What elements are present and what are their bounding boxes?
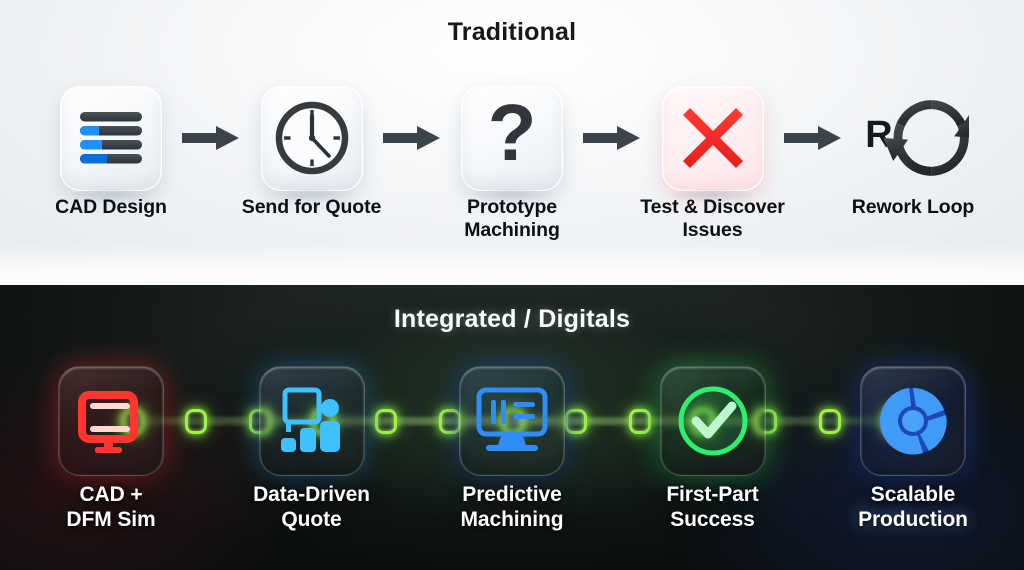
step-rework-loop[interactable]: R	[854, 68, 972, 208]
step-cad-design[interactable]	[52, 68, 170, 208]
tile-prototype-machining: ?	[461, 86, 563, 191]
label-predictive-machining: Predictive Machining	[417, 482, 607, 562]
tile-test-discover-issues	[662, 86, 764, 191]
step-cad-dfm-sim[interactable]	[52, 358, 170, 483]
clock-icon	[273, 99, 351, 177]
arrow-right-icon-1	[182, 125, 240, 151]
label-line1: Prototype	[467, 196, 557, 218]
label-cad-design: CAD Design	[16, 196, 206, 260]
label-line1: CAD Design	[55, 196, 167, 218]
label-prototype-machining: Prototype Machining	[417, 196, 607, 260]
traditional-step-row: ?	[0, 68, 1024, 208]
question-mark-icon: ?	[482, 98, 542, 178]
tile-data-driven-quote	[259, 366, 365, 476]
traditional-labels: CAD Design Send for Quote Prototype Mach…	[0, 196, 1024, 260]
analytics-person-icon	[275, 385, 349, 457]
step-test-discover-issues[interactable]	[654, 68, 772, 208]
label-line2: Machining	[417, 507, 607, 532]
traditional-title: Traditional	[0, 18, 1024, 47]
label-cad-dfm-sim: CAD + DFM Sim	[16, 482, 206, 562]
digital-labels: CAD + DFM Sim Data-Driven Quote Predicti…	[0, 482, 1024, 562]
label-line1: CAD +	[79, 483, 142, 506]
digital-step-row	[0, 358, 1024, 483]
cad-bars-icon	[78, 110, 144, 166]
label-first-part-success: First-Part Success	[618, 482, 808, 562]
svg-text:?: ?	[488, 98, 537, 177]
red-x-icon	[677, 102, 749, 174]
step-first-part-success[interactable]	[654, 358, 772, 483]
tile-rework-loop: R	[857, 86, 969, 191]
label-line2: DFM Sim	[16, 507, 206, 532]
tile-cad-design	[60, 86, 162, 191]
tile-send-for-quote	[261, 86, 363, 191]
arrow-right-icon-4	[784, 125, 842, 151]
label-scalable-production: Scalable Production	[818, 482, 1008, 562]
label-line1: Scalable	[871, 483, 955, 506]
tile-predictive-machining	[459, 366, 565, 476]
tile-first-part-success	[660, 366, 766, 476]
label-line2: Production	[818, 507, 1008, 532]
tile-cad-dfm-sim	[58, 366, 164, 476]
traditional-panel: Traditional	[0, 0, 1024, 285]
step-send-for-quote[interactable]	[253, 68, 371, 208]
red-monitor-icon	[75, 385, 147, 457]
step-scalable-production[interactable]	[854, 358, 972, 483]
label-line1: Rework Loop	[852, 196, 974, 218]
label-line2: Machining	[464, 219, 560, 241]
donut-chart-icon	[873, 381, 953, 461]
label-test-discover-issues: Test & Discover Issues	[618, 196, 808, 260]
label-line1: First-Part	[666, 483, 758, 506]
step-data-driven-quote[interactable]	[253, 358, 371, 483]
label-line1: Data-Driven	[253, 483, 370, 506]
label-data-driven-quote: Data-Driven Quote	[217, 482, 407, 562]
step-predictive-machining[interactable]	[453, 358, 571, 483]
label-line1: Predictive	[462, 483, 561, 506]
label-rework-loop: Rework Loop	[818, 196, 1008, 260]
monitor-chart-icon	[474, 386, 550, 456]
label-line2: Issues	[682, 219, 742, 241]
label-line1: Test & Discover	[640, 196, 784, 218]
step-prototype-machining[interactable]: ?	[453, 68, 571, 208]
label-line2: Quote	[217, 507, 407, 532]
tile-scalable-production	[860, 366, 966, 476]
arrow-right-icon-3	[583, 125, 641, 151]
check-circle-icon	[673, 381, 753, 461]
digital-title: Integrated / Digitals	[0, 305, 1024, 334]
label-line2: Success	[618, 507, 808, 532]
process-comparison-infographic: Traditional	[0, 0, 1024, 570]
rework-loop-icon: R	[857, 82, 969, 194]
label-send-for-quote: Send for Quote	[217, 196, 407, 260]
arrow-right-icon-2	[383, 125, 441, 151]
label-line1: Send for Quote	[242, 196, 381, 218]
